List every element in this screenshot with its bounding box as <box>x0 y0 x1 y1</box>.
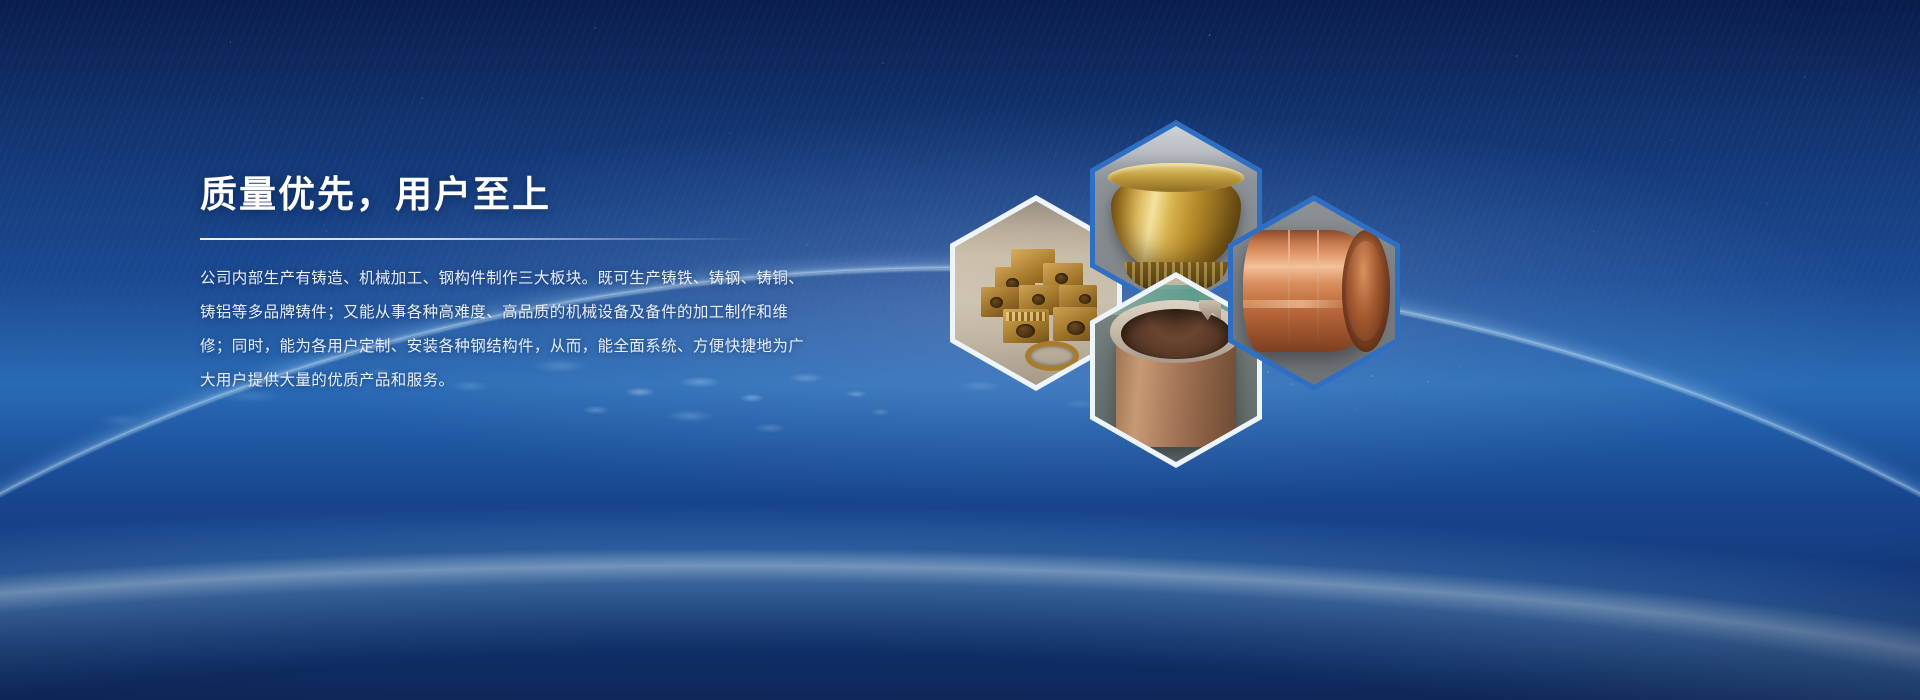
title-divider <box>200 238 756 240</box>
description-line: 大用户提供大量的优质产品和服务。 <box>200 364 782 398</box>
description-line: 铸铝等多品牌铸件；又能从事各种高难度、高品质的机械设备及备件的加工制作和维 <box>200 296 782 330</box>
description-line: 修；同时，能为各用户定制、安装各种钢结构件，从而，能全面系统、方便快捷地为广 <box>200 330 782 364</box>
hero-banner: 质量优先，用户至上 公司内部生产有铸造、机械加工、钢构件制作三大板块。既可生产铸… <box>0 0 1920 700</box>
description-line: 公司内部生产有铸造、机械加工、钢构件制作三大板块。既可生产铸铁、铸钢、铸铜、 <box>200 262 782 296</box>
hex-copper-tube-image <box>1233 201 1395 385</box>
tube-highlight <box>1317 230 1319 351</box>
tube-highlight <box>1288 230 1290 351</box>
product-hexagon-cluster <box>940 110 1400 440</box>
banner-copy: 质量优先，用户至上 公司内部生产有铸造、机械加工、钢构件制作三大板块。既可生产铸… <box>200 172 800 398</box>
bowl-rim <box>1108 163 1244 192</box>
brass-ring <box>1025 341 1079 371</box>
brass-block <box>1003 309 1049 343</box>
banner-description: 公司内部生产有铸造、机械加工、钢构件制作三大板块。既可生产铸铁、铸钢、铸铜、 铸… <box>200 262 782 398</box>
tube-bore <box>1346 241 1385 340</box>
bushing-bore <box>1121 309 1231 359</box>
page-title: 质量优先，用户至上 <box>200 172 800 218</box>
